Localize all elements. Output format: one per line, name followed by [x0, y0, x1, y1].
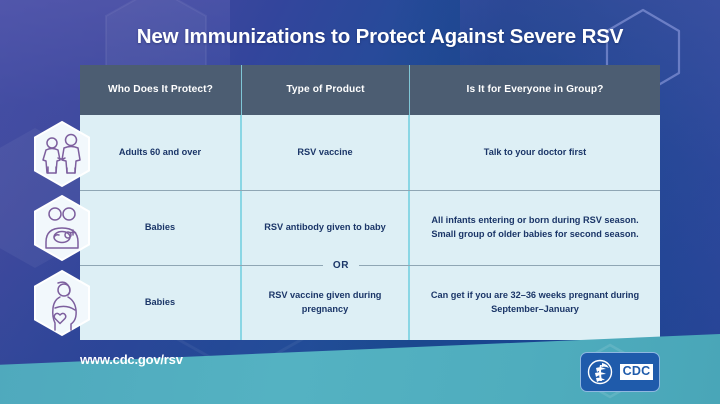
table-body: Adults 60 and over RSV vaccine Talk to y…	[80, 115, 660, 340]
cell-type-of-product: RSV antibody given to baby	[242, 191, 410, 265]
rsv-immunization-infographic: New Immunizations to Protect Against Sev…	[0, 0, 720, 404]
cell-type-of-product: RSV vaccine	[242, 115, 410, 190]
table-row: Adults 60 and over RSV vaccine Talk to y…	[80, 115, 660, 190]
table-header-row: Who Does It Protect? Type of Product Is …	[80, 65, 660, 115]
parents-with-baby-icon	[31, 194, 93, 262]
cell-is-it-for-everyone: All infants entering or born during RSV …	[410, 191, 660, 265]
cell-type-of-product: RSV vaccine given during pregnancy	[242, 266, 410, 340]
cell-who-protects: Babies	[80, 191, 242, 265]
site-url[interactable]: www.cdc.gov/rsv	[80, 352, 183, 367]
column-header-is-it-for-everyone: Is It for Everyone in Group?	[410, 65, 660, 115]
cell-who-protects: Babies	[80, 266, 242, 340]
immunization-table: Who Does It Protect? Type of Product Is …	[80, 65, 660, 340]
table-row: Babies RSV antibody given to baby All in…	[80, 190, 660, 265]
table-row: Babies RSV vaccine given during pregnanc…	[80, 265, 660, 340]
cell-who-protects: Adults 60 and over	[80, 115, 242, 190]
hhs-eagle-icon	[587, 358, 617, 386]
column-header-type-of-product: Type of Product	[242, 65, 410, 115]
page-title: New Immunizations to Protect Against Sev…	[80, 26, 680, 49]
cell-is-it-for-everyone: Talk to your doctor first	[410, 115, 660, 190]
pregnant-person-icon	[31, 269, 93, 337]
cell-is-it-for-everyone: Can get if you are 32–36 weeks pregnant …	[410, 266, 660, 340]
cdc-wordmark: CDC	[620, 364, 654, 380]
column-header-who-protects: Who Does It Protect?	[80, 65, 242, 115]
or-divider-label: OR	[323, 257, 359, 273]
cdc-logo[interactable]: CDC	[580, 352, 660, 392]
older-adults-icon	[31, 120, 93, 188]
